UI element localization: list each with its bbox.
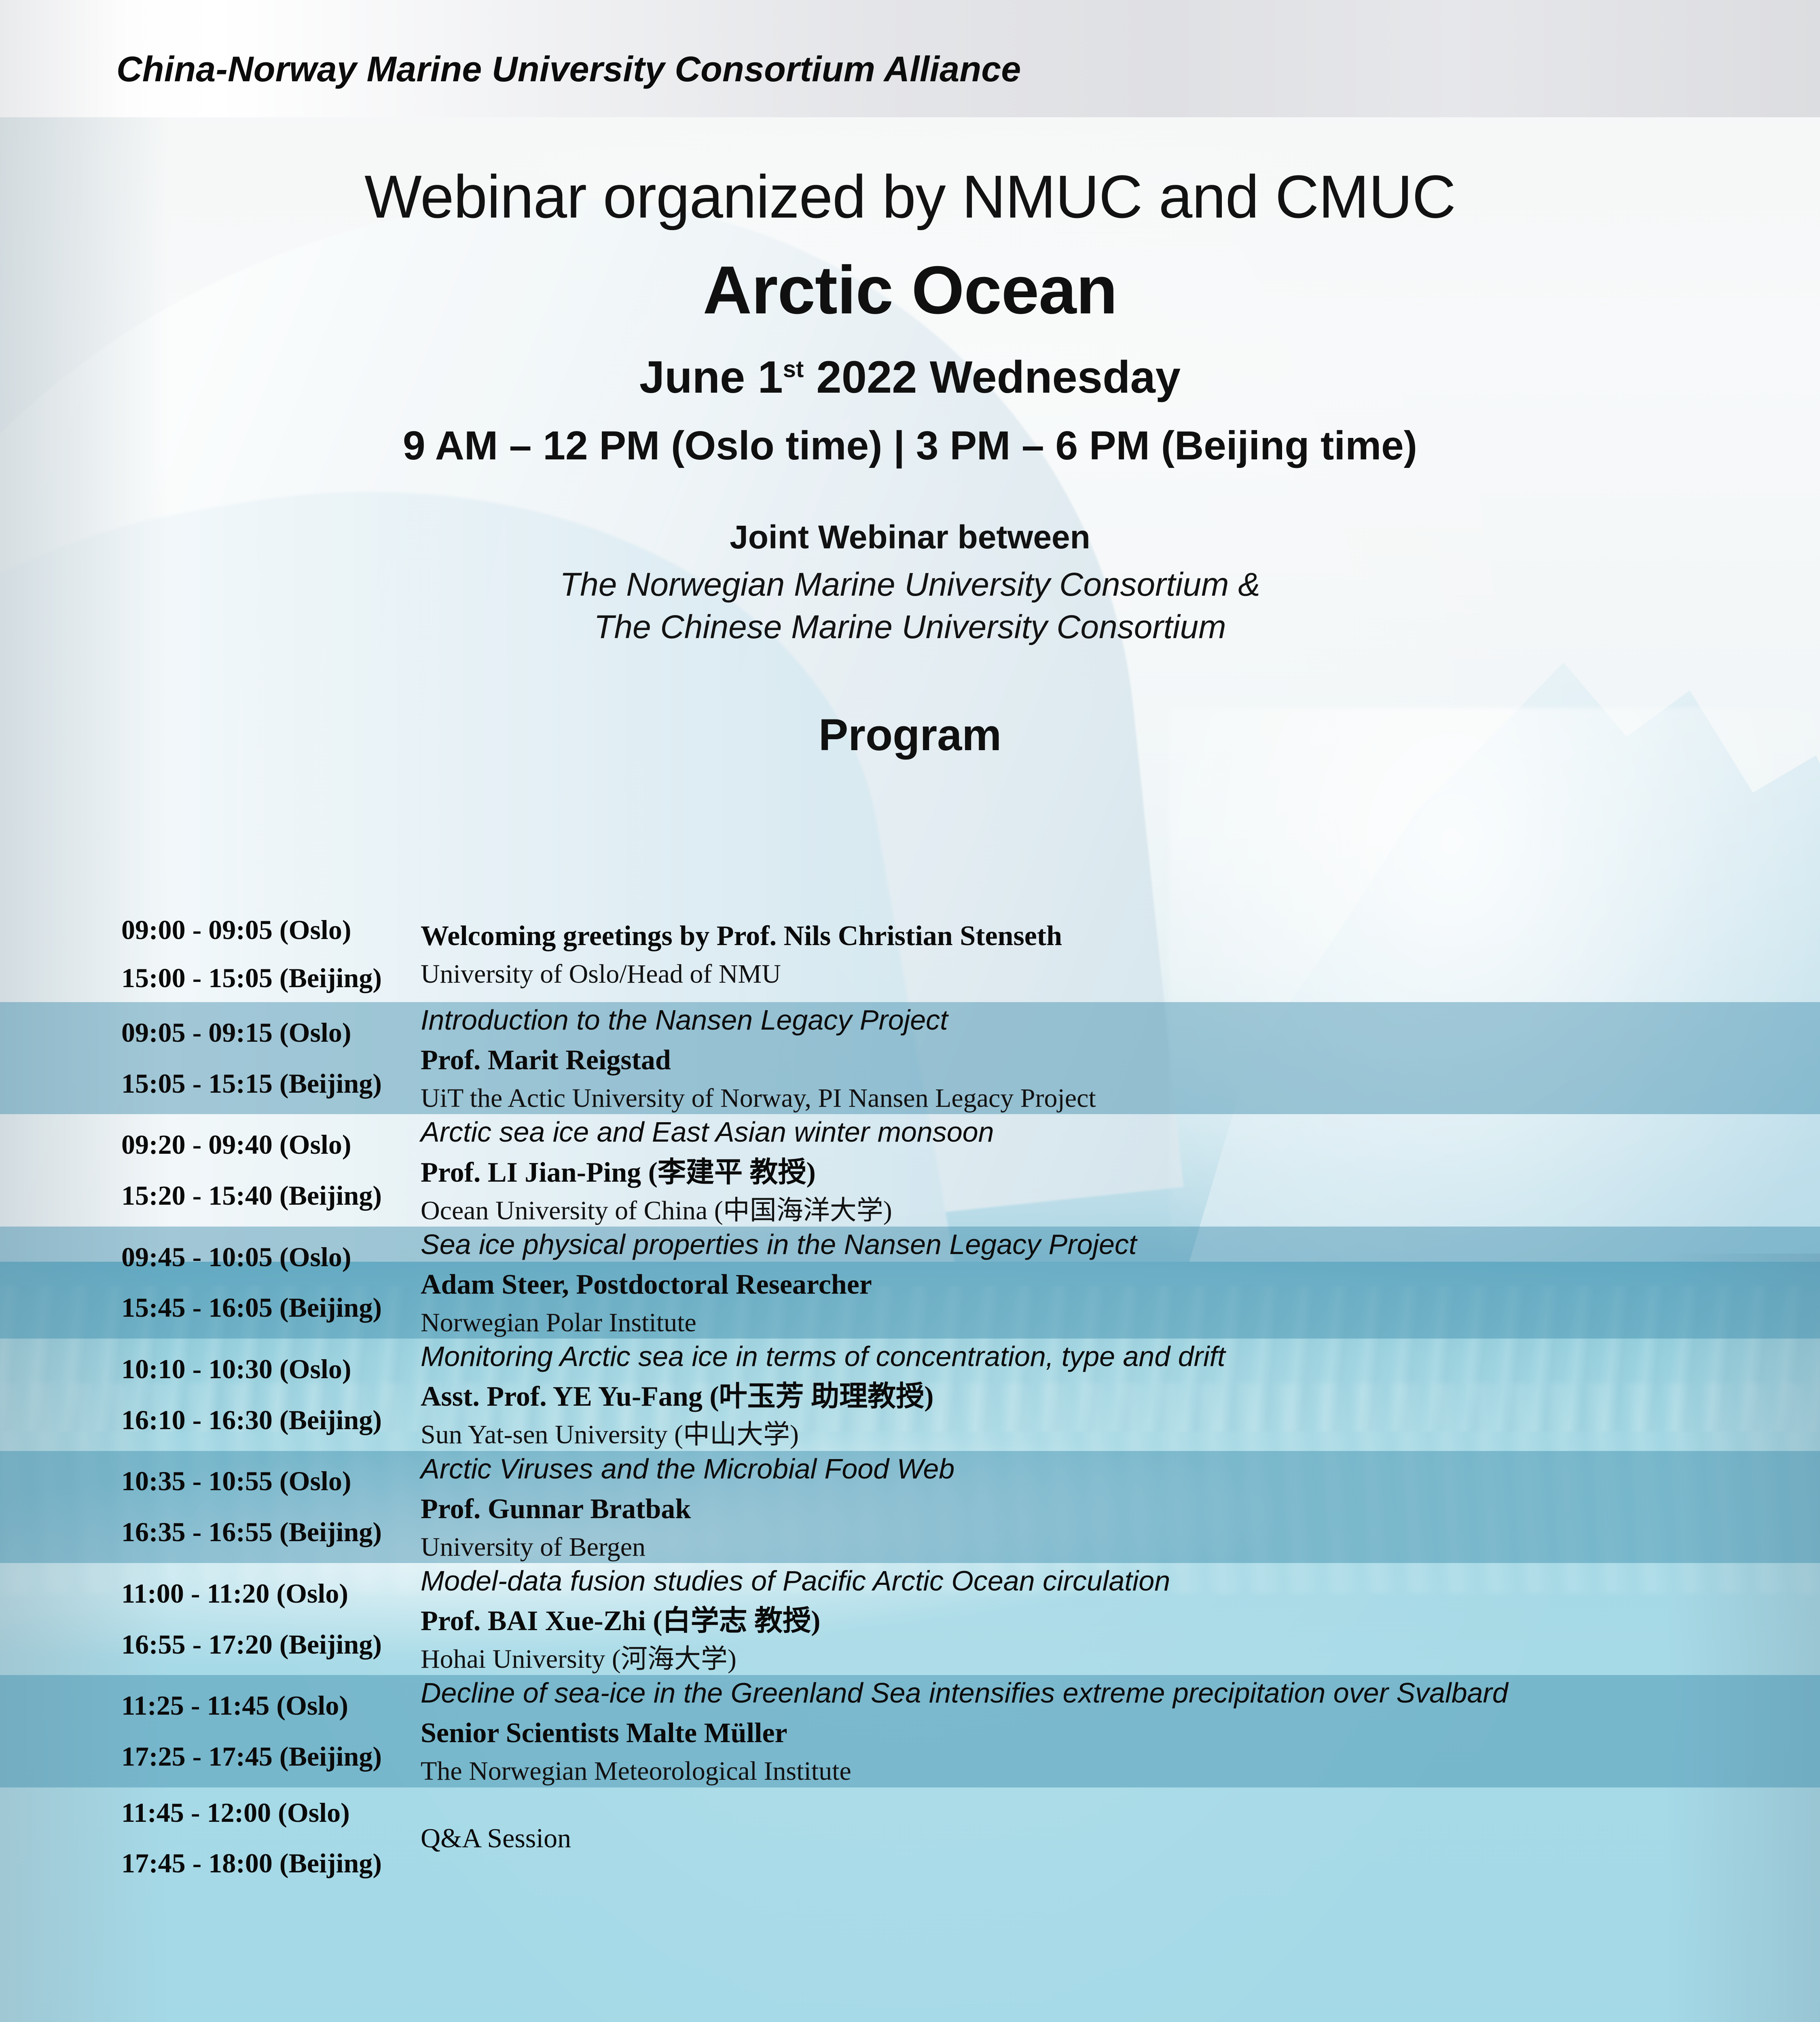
talk-title: Arctic Viruses and the Microbial Food We… [421, 1451, 1755, 1487]
event-time: 9 AM – 12 PM (Oslo time) | 3 PM – 6 PM (… [0, 423, 1820, 469]
time-beijing: 15:05 - 15:15 (Beijing) [121, 1058, 421, 1109]
time-oslo: 09:20 - 09:40 (Oslo) [121, 1119, 421, 1170]
program-row-body: Welcoming greetings by Prof. Nils Christ… [421, 918, 1820, 990]
speaker-name: Prof. LI Jian-Ping (李建平 教授) [421, 1156, 1755, 1190]
speaker-affiliation: UiT the Actic University of Norway, PI N… [421, 1082, 1755, 1114]
program-row-body: Sea ice physical properties in the Nanse… [421, 1227, 1820, 1339]
time-oslo: 09:45 - 10:05 (Oslo) [121, 1232, 421, 1283]
event-date: June 1st 2022 Wednesday [0, 351, 1820, 403]
time-beijing: 16:55 - 17:20 (Beijing) [121, 1619, 421, 1670]
program-row-times: 09:00 - 09:05 (Oslo)15:00 - 15:05 (Beiji… [0, 906, 421, 1002]
top-banner: China-Norway Marine University Consortiu… [0, 0, 1820, 117]
time-oslo: 11:25 - 11:45 (Oslo) [121, 1680, 421, 1731]
speaker-affiliation: Ocean University of China (中国海洋大学) [421, 1195, 1755, 1227]
speaker-name: Asst. Prof. YE Yu-Fang (叶玉芳 助理教授) [421, 1380, 1755, 1414]
program-row: 10:35 - 10:55 (Oslo)16:35 - 16:55 (Beiji… [0, 1451, 1820, 1563]
time-oslo: 10:10 - 10:30 (Oslo) [121, 1344, 421, 1395]
talk-title: Model-data fusion studies of Pacific Arc… [421, 1563, 1755, 1599]
talk-title: Arctic sea ice and East Asian winter mon… [421, 1114, 1755, 1150]
program-row-body: Monitoring Arctic sea ice in terms of co… [421, 1339, 1820, 1451]
organizer-line-1: The Norwegian Marine University Consorti… [0, 564, 1820, 606]
event-date-prefix: June 1 [639, 352, 783, 402]
organizers-block: The Norwegian Marine University Consorti… [0, 564, 1820, 649]
program-row-times: 09:45 - 10:05 (Oslo)15:45 - 16:05 (Beiji… [0, 1232, 421, 1334]
program-row-times: 10:10 - 10:30 (Oslo)16:10 - 16:30 (Beiji… [0, 1344, 421, 1446]
program-row: 09:45 - 10:05 (Oslo)15:45 - 16:05 (Beiji… [0, 1227, 1820, 1339]
time-beijing: 15:45 - 16:05 (Beijing) [121, 1282, 421, 1333]
program-row: 11:45 - 12:00 (Oslo)17:45 - 18:00 (Beiji… [0, 1787, 1820, 1889]
header-block: Webinar organized by NMUC and CMUC Arcti… [0, 117, 1820, 761]
program-row: 09:20 - 09:40 (Oslo)15:20 - 15:40 (Beiji… [0, 1114, 1820, 1226]
speaker-affiliation: Sun Yat-sen University (中山大学) [421, 1419, 1755, 1451]
speaker-affiliation: The Norwegian Meteorological Institute [421, 1755, 1755, 1787]
event-date-ordinal: st [783, 356, 804, 383]
webinar-organizer-line: Webinar organized by NMUC and CMUC [0, 162, 1820, 232]
talk-title: Sea ice physical properties in the Nanse… [421, 1227, 1755, 1262]
program-row: 11:00 - 11:20 (Oslo)16:55 - 17:20 (Beiji… [0, 1563, 1820, 1675]
program-table: 09:00 - 09:05 (Oslo)15:00 - 15:05 (Beiji… [0, 906, 1820, 1889]
alliance-title: China-Norway Marine University Consortiu… [116, 49, 1021, 90]
poster-root: China-Norway Marine University Consortiu… [0, 0, 1820, 2022]
time-beijing: 15:20 - 15:40 (Beijing) [121, 1170, 421, 1221]
talk-title: Introduction to the Nansen Legacy Projec… [421, 1002, 1755, 1038]
speaker-affiliation: Hohai University (河海大学) [421, 1643, 1755, 1675]
speaker-name: Senior Scientists Malte Müller [421, 1716, 1755, 1750]
time-beijing: 16:10 - 16:30 (Beijing) [121, 1395, 421, 1446]
time-oslo: 09:05 - 09:15 (Oslo) [121, 1007, 421, 1058]
program-row-body: Decline of sea-ice in the Greenland Sea … [421, 1675, 1820, 1787]
program-row-times: 11:45 - 12:00 (Oslo)17:45 - 18:00 (Beiji… [0, 1787, 421, 1889]
speaker-name: Welcoming greetings by Prof. Nils Christ… [421, 919, 1755, 953]
session-label: Q&A Session [421, 1822, 1755, 1854]
program-row-times: 09:20 - 09:40 (Oslo)15:20 - 15:40 (Beiji… [0, 1119, 421, 1221]
talk-title: Monitoring Arctic sea ice in terms of co… [421, 1339, 1755, 1374]
time-beijing: 15:00 - 15:05 (Beijing) [121, 954, 421, 1002]
time-oslo: 11:45 - 12:00 (Oslo) [121, 1787, 421, 1838]
speaker-name: Prof. BAI Xue-Zhi (白学志 教授) [421, 1604, 1755, 1638]
event-date-suffix: 2022 Wednesday [804, 352, 1181, 402]
speaker-name: Prof. Marit Reigstad [421, 1043, 1755, 1077]
program-row-times: 09:05 - 09:15 (Oslo)15:05 - 15:15 (Beiji… [0, 1007, 421, 1109]
page-title: Arctic Ocean [0, 251, 1820, 329]
program-row-body: Model-data fusion studies of Pacific Arc… [421, 1563, 1820, 1675]
speaker-name: Prof. Gunnar Bratbak [421, 1492, 1755, 1526]
time-beijing: 17:45 - 18:00 (Beijing) [121, 1838, 421, 1889]
program-row: 09:00 - 09:05 (Oslo)15:00 - 15:05 (Beiji… [0, 906, 1820, 1002]
program-row-body: Introduction to the Nansen Legacy Projec… [421, 1002, 1820, 1114]
organizer-line-2: The Chinese Marine University Consortium [0, 606, 1820, 649]
joint-webinar-label: Joint Webinar between [0, 518, 1820, 556]
program-row-times: 10:35 - 10:55 (Oslo)16:35 - 16:55 (Beiji… [0, 1456, 421, 1558]
time-beijing: 17:25 - 17:45 (Beijing) [121, 1731, 421, 1782]
program-row-body: Arctic Viruses and the Microbial Food We… [421, 1451, 1820, 1563]
speaker-affiliation: University of Oslo/Head of NMU [421, 958, 1755, 990]
program-row-times: 11:25 - 11:45 (Oslo)17:25 - 17:45 (Beiji… [0, 1680, 421, 1782]
program-row-body: Q&A Session [421, 1822, 1820, 1854]
time-oslo: 10:35 - 10:55 (Oslo) [121, 1456, 421, 1507]
program-row: 10:10 - 10:30 (Oslo)16:10 - 16:30 (Beiji… [0, 1339, 1820, 1451]
speaker-affiliation: Norwegian Polar Institute [421, 1307, 1755, 1339]
speaker-name: Adam Steer, Postdoctoral Researcher [421, 1268, 1755, 1302]
program-heading: Program [0, 709, 1820, 761]
time-beijing: 16:35 - 16:55 (Beijing) [121, 1507, 421, 1558]
speaker-affiliation: University of Bergen [421, 1531, 1755, 1563]
time-oslo: 11:00 - 11:20 (Oslo) [121, 1568, 421, 1619]
program-row: 09:05 - 09:15 (Oslo)15:05 - 15:15 (Beiji… [0, 1002, 1820, 1114]
program-row: 11:25 - 11:45 (Oslo)17:25 - 17:45 (Beiji… [0, 1675, 1820, 1787]
talk-title: Decline of sea-ice in the Greenland Sea … [421, 1675, 1755, 1711]
program-row-times: 11:00 - 11:20 (Oslo)16:55 - 17:20 (Beiji… [0, 1568, 421, 1670]
program-row-body: Arctic sea ice and East Asian winter mon… [421, 1114, 1820, 1226]
time-oslo: 09:00 - 09:05 (Oslo) [121, 906, 421, 954]
